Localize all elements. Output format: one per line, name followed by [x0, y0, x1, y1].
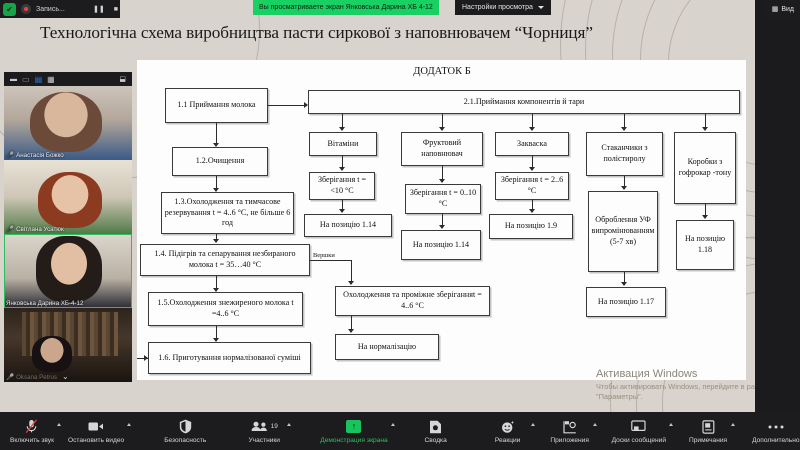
share-screen-caret[interactable]	[391, 423, 395, 426]
flow-arrow	[339, 209, 345, 213]
flow-node-boxes-to-1-18: На позицію 1.18	[676, 220, 734, 270]
flow-node-1-2: 1.2.Очищення	[172, 147, 268, 176]
video-participants-panel: ▬ ▭ ▤ ▦ ⬓ 🎤 Анастасія Божко 🎤 Світлана У…	[4, 72, 132, 382]
audio-options-caret[interactable]	[57, 423, 61, 426]
flow-node-1-3: 1.3.Охолодження та тимчасове резервуванн…	[161, 192, 294, 234]
toolbar-label: Реакции	[495, 437, 520, 444]
apps-caret[interactable]	[593, 423, 597, 426]
flow-node-vitamins: Вітаміни	[309, 132, 377, 156]
participants-icon: 19	[251, 419, 278, 435]
flow-arrow	[529, 127, 535, 131]
share-screen-icon: ↑	[346, 419, 361, 435]
microphone-muted-icon: 🎤	[6, 225, 14, 233]
grid-icon: ▦	[772, 5, 779, 13]
side-by-side-icon[interactable]: ▤	[35, 75, 43, 84]
speaker-view-icon[interactable]: ▭	[22, 75, 30, 84]
participant-tile[interactable]: 🎤 Анастасія Божко	[4, 86, 132, 160]
microphone-muted-icon	[25, 419, 38, 435]
minimize-icon[interactable]: ▬	[10, 76, 17, 83]
toolbar-label: Остановить видео	[68, 437, 124, 444]
toolbar-more-button[interactable]: Дополнительно	[746, 417, 800, 446]
apps-icon	[563, 419, 577, 435]
toolbar-label: Сводка	[425, 437, 447, 444]
participant-name: Світлана Усатюк	[16, 226, 64, 233]
toolbar-unmute-button[interactable]: Включить звук	[4, 417, 60, 446]
participant-name-row: Янковська Дарина ХБ-4-12	[6, 300, 83, 307]
toolbar-label: Дополнительно	[752, 437, 799, 444]
video-options-caret[interactable]	[127, 423, 131, 426]
flow-edge	[268, 105, 306, 106]
flow-edge	[310, 260, 352, 261]
gallery-view-icon[interactable]: ▦	[47, 75, 55, 84]
participants-count: 19	[271, 423, 278, 430]
pause-recording-button[interactable]: ❚❚	[91, 5, 107, 13]
flow-arrow	[339, 127, 345, 131]
recording-label: Запись...	[36, 6, 86, 13]
toolbar-apps-button[interactable]: Приложения	[544, 417, 596, 446]
toolbar-label: Безопасность	[164, 437, 206, 444]
summary-icon	[429, 419, 442, 435]
flow-node-cooling-intermediate: Охолодження та проміжне зберіганняt = 4.…	[335, 286, 490, 316]
video-panel-controls: ▬ ▭ ▤ ▦ ⬓	[4, 72, 132, 86]
toolbar-label: Участники	[248, 437, 280, 444]
watermark-subtitle: Чтобы активировать Windows, перейдите в …	[596, 382, 755, 402]
view-settings-button[interactable]: Настройки просмотра	[455, 0, 551, 15]
participant-tiles: 🎤 Анастасія Божко 🎤 Світлана Усатюк Янко…	[4, 86, 132, 382]
toolbar-label: Включить звук	[10, 437, 54, 444]
flow-arrow	[702, 215, 708, 219]
flow-node-starter-storage: Зберігання t = 2..6 °C	[495, 172, 569, 200]
participant-name: Oksana Petrus	[16, 374, 57, 381]
flow-arrow	[529, 167, 535, 171]
toolbar-share-screen-button[interactable]: ↑ Демонстрация экрана	[314, 417, 393, 446]
meeting-toolbar: Включить звук Остановить видео Безопасно…	[0, 412, 800, 450]
flow-node-1-5: 1.5.Охолодження знежиреного молока t =4.…	[148, 292, 303, 326]
toolbar-label: Приложения	[550, 437, 589, 444]
shield-check-icon: ✔	[3, 3, 16, 16]
flow-node-boxes: Коробки з гофрокар -тону	[674, 132, 736, 204]
participant-tile[interactable]: 🎤 Oksana Petrus ⌄	[4, 308, 132, 382]
flow-arrow	[339, 167, 345, 171]
view-button-label: Вид	[781, 6, 794, 13]
flow-arrow	[529, 209, 535, 213]
flow-arrow	[702, 127, 708, 131]
flow-edge-label-cream: Вершки	[313, 252, 335, 259]
flow-node-uv-to-1-17: На позицію 1.17	[586, 287, 666, 317]
chevron-down-icon	[538, 6, 544, 9]
flow-node-fruit-to-1-14: На позицію 1.14	[401, 230, 481, 260]
top-bar: ✔ Запись... ❚❚ ■ Вы просматриваете экран…	[0, 0, 800, 18]
flow-arrow	[621, 186, 627, 190]
flow-node-vitamins-to-1-14: На позицію 1.14	[304, 214, 392, 237]
microphone-muted-icon: 🎤	[6, 151, 14, 159]
flow-node-fruit-storage: Зберігання t = 0..10 °C	[405, 184, 481, 214]
view-settings-label: Настройки просмотра	[462, 4, 533, 11]
toolbar-notes-button[interactable]: Примечания	[682, 417, 734, 446]
participant-name-row: 🎤 Oksana Petrus	[6, 373, 57, 381]
toolbar-whiteboard-button[interactable]: Доски сообщений	[606, 417, 672, 446]
toolbar-label: Демонстрация экрана	[320, 437, 387, 444]
notes-icon	[702, 419, 715, 435]
toolbar-label: Примечания	[689, 437, 727, 444]
recording-indicator: ✔ Запись... ❚❚ ■	[0, 0, 120, 18]
reactions-icon	[501, 419, 515, 435]
flow-arrow	[439, 127, 445, 131]
flow-node-uv-treatment: Оброблення УФ випромінюванням (5-7 хв)	[588, 191, 658, 272]
participant-name: Анастасія Божко	[16, 152, 64, 159]
flow-arrow	[621, 282, 627, 286]
flow-node-1-6: 1.6. Приготування нормалізованої суміші	[148, 342, 311, 374]
flow-node-2-1: 2.1.Приймання компонентів й тари	[308, 90, 740, 114]
toolbar-label: Доски сообщений	[612, 437, 666, 444]
stop-recording-button[interactable]: ■	[112, 6, 120, 13]
shield-icon	[179, 419, 192, 435]
toolbar-stop-video-button[interactable]: Остановить видео	[62, 417, 130, 446]
chart-heading: ДОДАТОК Б	[297, 66, 587, 77]
flow-arrow	[213, 239, 219, 243]
flow-arrow	[439, 179, 445, 183]
toolbar-reactions-button[interactable]: Реакции	[482, 417, 534, 446]
toolbar-participants-button[interactable]: 19 Участники	[238, 417, 290, 446]
chevron-down-icon[interactable]: ⌄	[62, 372, 69, 381]
whiteboard-caret[interactable]	[669, 423, 673, 426]
video-camera-icon	[88, 419, 104, 435]
screen-share-banner: Вы просматриваете экран Янковська Дарина…	[253, 0, 439, 15]
toolbar-security-button[interactable]: Безопасность	[158, 417, 212, 446]
page-title: Технологічна схема виробництва пасти сир…	[40, 23, 755, 43]
flow-node-starter-to-1-9: На позицію 1.9	[489, 214, 573, 239]
flow-node-1-1: 1.1 Приймання молока	[165, 88, 268, 123]
reactions-caret[interactable]	[531, 423, 535, 426]
flow-arrow	[144, 355, 148, 361]
participant-tile[interactable]: 🎤 Світлана Усатюк	[4, 160, 132, 234]
flow-node-to-normalization: На нормалізацію	[335, 334, 439, 360]
whiteboard-icon	[631, 419, 646, 435]
toolbar-items: Включить звук Остановить видео Безопасно…	[0, 417, 800, 446]
flow-arrow	[348, 329, 354, 333]
zoom-meeting-window: Технологічна схема виробництва пасти сир…	[0, 0, 800, 450]
notes-caret[interactable]	[731, 423, 735, 426]
participants-caret[interactable]	[287, 423, 291, 426]
flow-arrow	[348, 281, 354, 285]
microphone-muted-icon: 🎤	[6, 373, 14, 381]
flow-node-cups: Стаканчики з полістиролу	[586, 132, 663, 176]
flow-node-starter: Закваска	[495, 132, 569, 156]
participant-name: Янковська Дарина ХБ-4-12	[6, 300, 83, 307]
more-icon	[767, 419, 785, 435]
flow-node-vitamins-storage: Зберігання t = <10 °C	[309, 172, 375, 200]
participant-name-row: 🎤 Анастасія Божко	[6, 151, 64, 159]
popout-icon[interactable]: ⬓	[119, 75, 126, 83]
record-dot-icon	[21, 4, 31, 14]
flow-arrow	[621, 127, 627, 131]
flow-edge	[216, 123, 217, 145]
flow-arrow	[439, 225, 445, 229]
flowchart-canvas: ДОДАТОК Б 1.1 Приймання молока 1.2.Очище…	[137, 60, 746, 380]
flow-node-1-4: 1.4. Підігрів та сепарування незбираного…	[140, 244, 310, 276]
flow-node-fruit-filler: Фруктовий наповнювач	[401, 132, 483, 166]
toolbar-summary-button[interactable]: Сводка	[410, 417, 462, 446]
participant-name-row: 🎤 Світлана Усатюк	[6, 225, 64, 233]
view-button[interactable]: ▦ Вид	[766, 0, 800, 18]
participant-tile-active-speaker[interactable]: Янковська Дарина ХБ-4-12	[4, 234, 132, 308]
